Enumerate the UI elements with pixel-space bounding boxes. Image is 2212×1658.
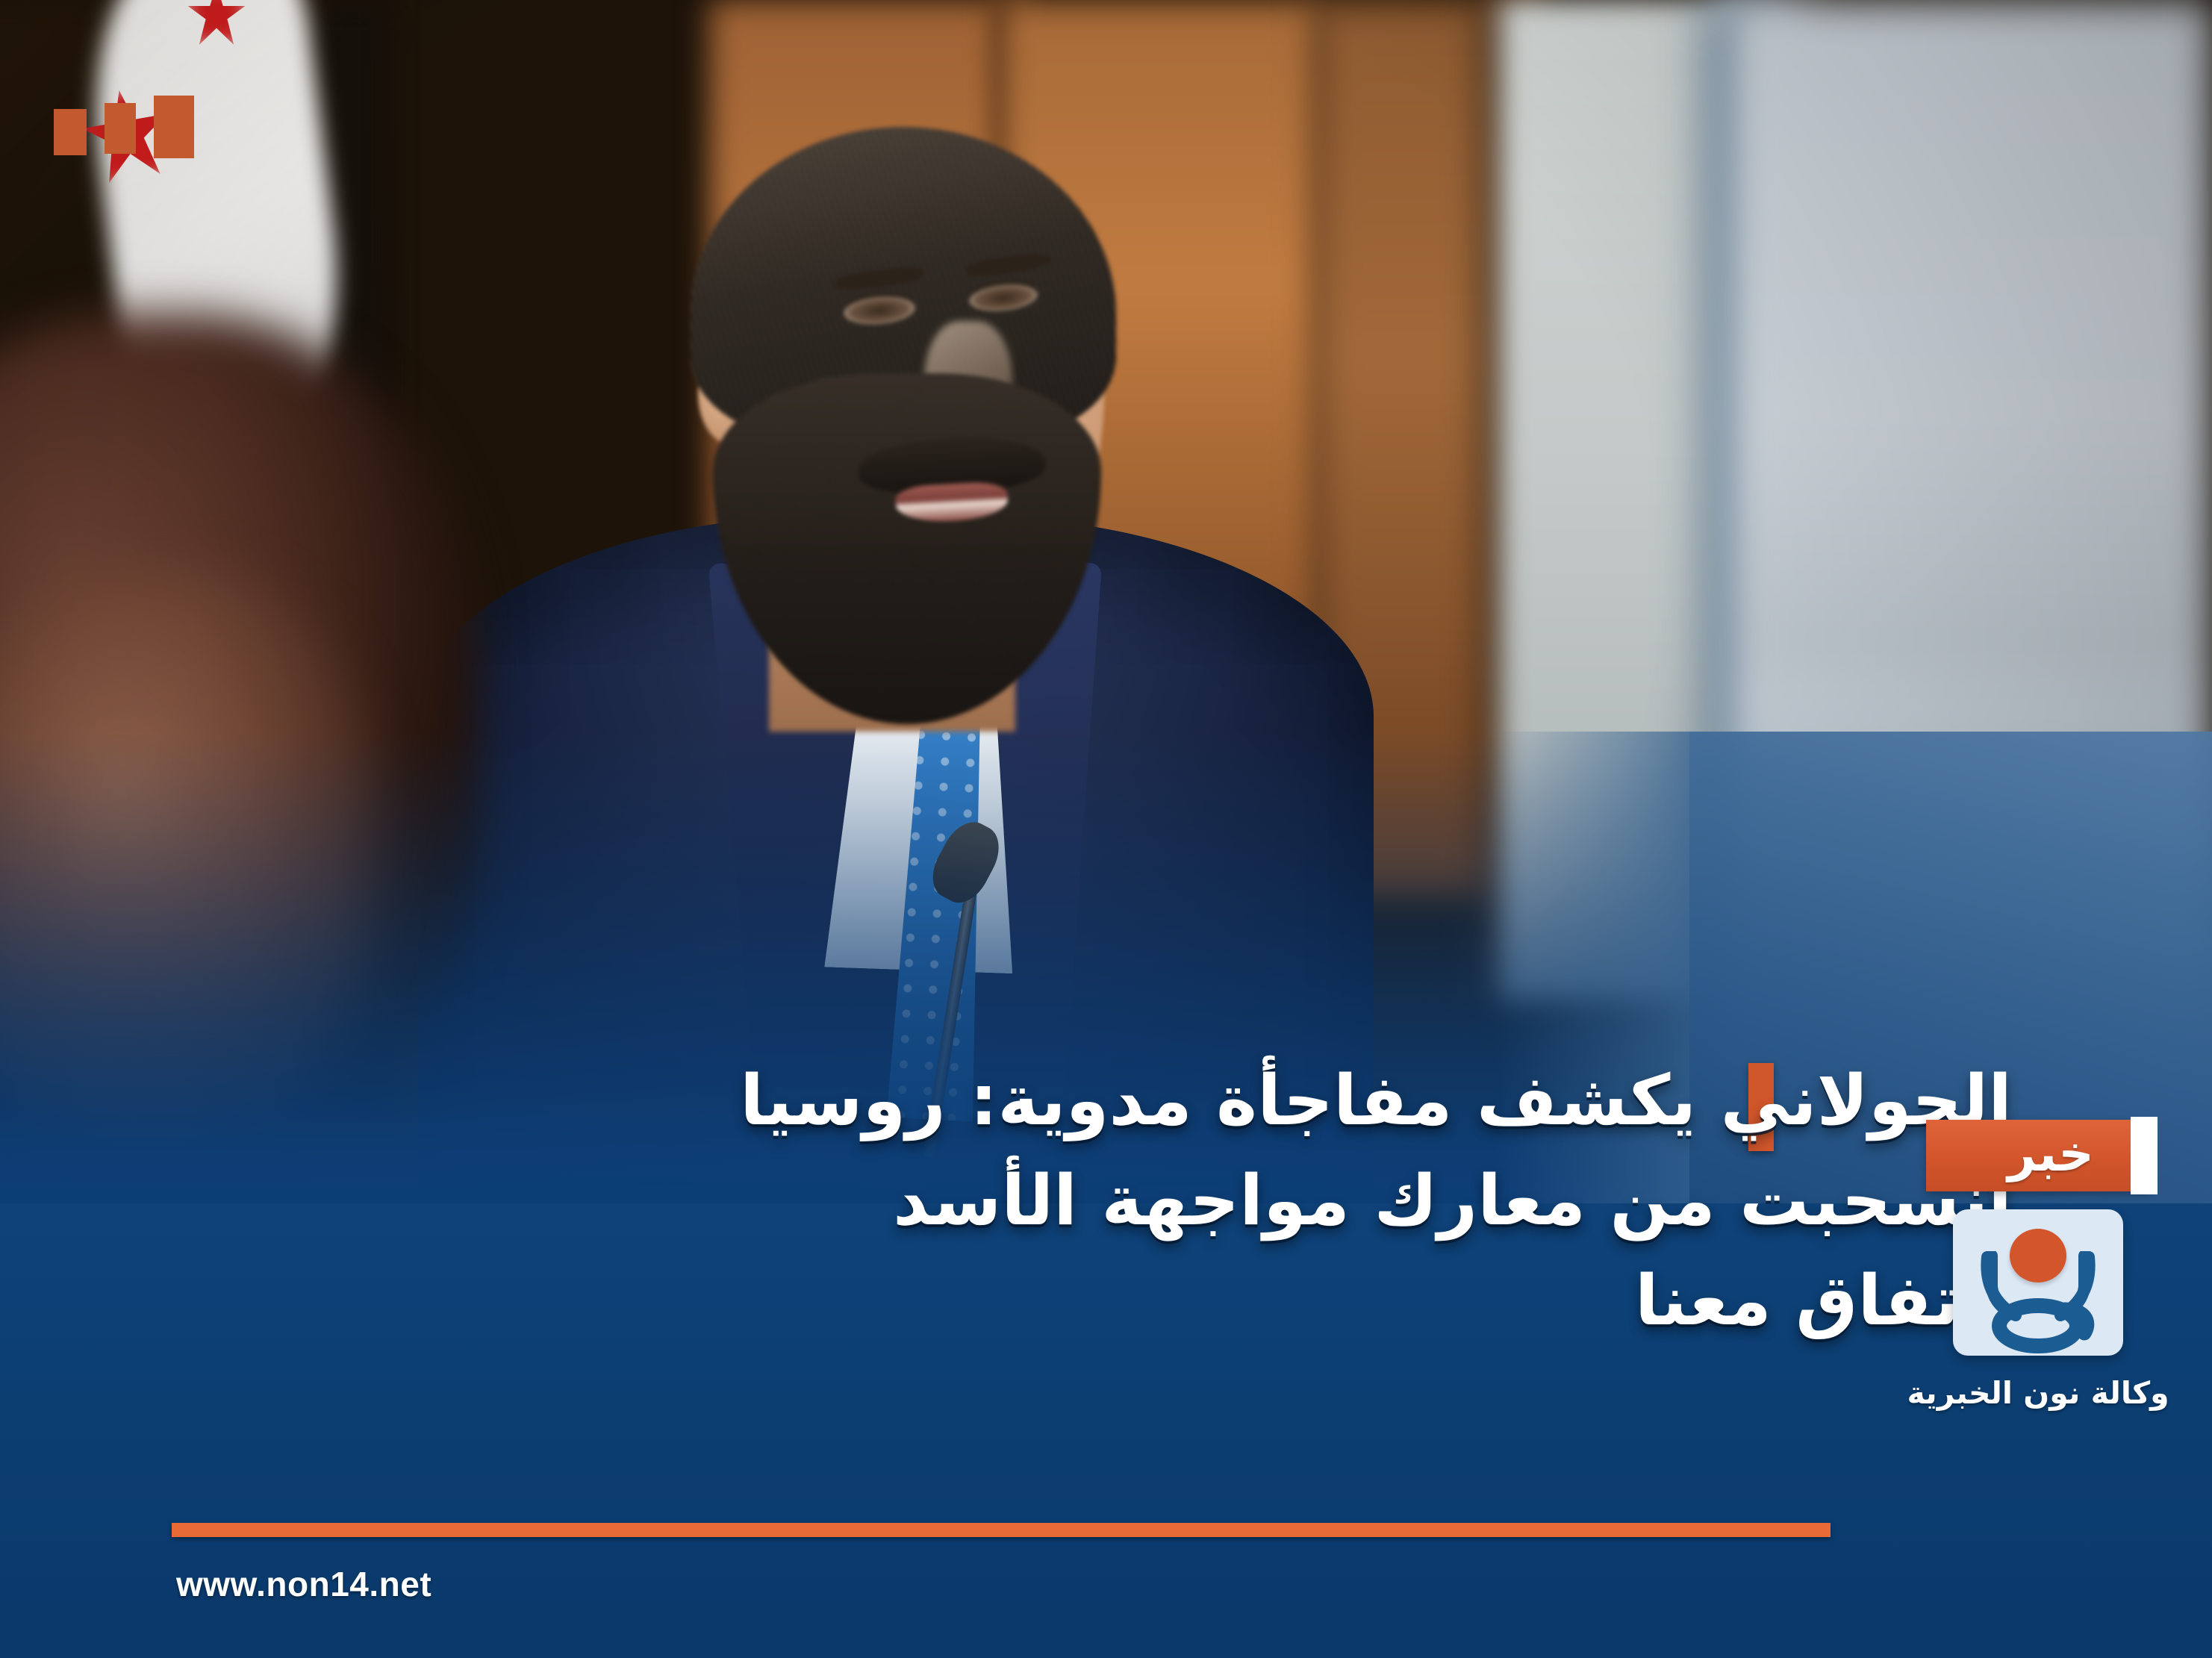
status-badge: خبر — [1926, 1120, 2150, 1191]
noon-agency-logo-icon[interactable] — [1953, 1209, 2123, 1356]
headline: الجولاني يكشف مفاجأة مدوية: روسيا انسحبت… — [157, 1051, 2012, 1351]
headline-line-3: باتفاق معنا — [157, 1251, 2012, 1351]
brand-block: خبر وكالة نون الخبرية — [1881, 1120, 2195, 1411]
logo-noon-glyph-icon — [1953, 1251, 2123, 1356]
orange-divider-line-icon — [172, 1523, 1831, 1537]
website-url[interactable]: www.non14.net — [176, 1564, 432, 1604]
subject-neck — [769, 537, 1015, 732]
headline-line-2: انسحبت من معارك مواجهة الأسد — [157, 1151, 2012, 1251]
agency-name: وكالة نون الخبرية — [1907, 1375, 2169, 1411]
status-badge-label: خبر — [2007, 1129, 2094, 1179]
news-card: الجولاني يكشف مفاجأة مدوية: روسيا انسحبت… — [0, 0, 2212, 1658]
headline-line-1: الجولاني يكشف مفاجأة مدوية: روسيا — [157, 1051, 2012, 1151]
blurred-foreground-figure — [0, 567, 373, 1135]
three-descending-bars-icon — [54, 96, 194, 158]
